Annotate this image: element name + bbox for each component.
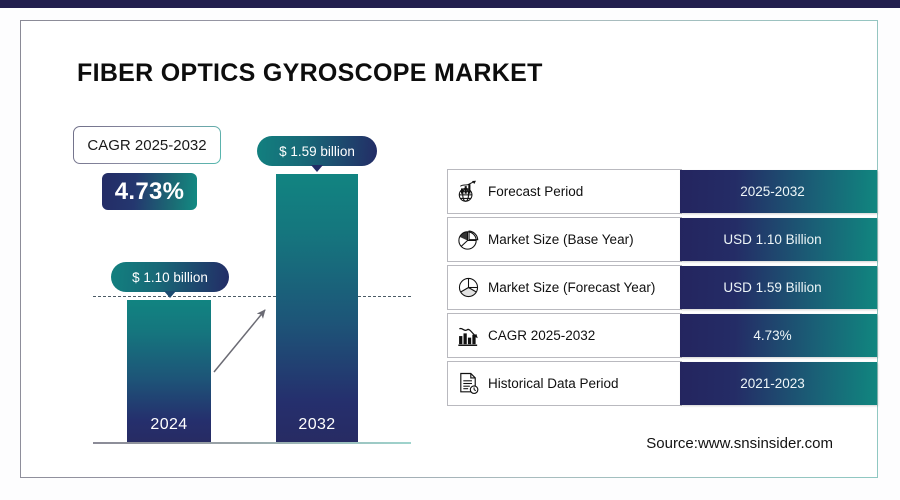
growth-arrow-icon [209,301,275,377]
table-row-value: 4.73% [680,328,877,343]
table-row-value-cell: USD 1.10 Billion [680,218,877,261]
pill-pointer-icon [311,165,323,172]
bar-value-pill-2024: $ 1.10 billion [111,262,229,292]
table-row-value-cell: 4.73% [680,314,877,357]
pill-pointer-icon [164,291,176,298]
summary-table: Forecast Period 2025-2032 [447,169,877,409]
pie-chart-exploded-icon [448,227,488,252]
pie-chart-segments-icon [448,275,488,300]
table-row: Market Size (Base Year) USD 1.10 Billion [447,217,877,262]
infographic-root: FIBER OPTICS GYROSCOPE MARKET CAGR 2025-… [0,0,900,500]
table-row-label-cell: Forecast Period [447,169,682,214]
bar-value-pill-2032: $ 1.59 billion [257,136,377,166]
bar-2024: 2024 [127,300,211,442]
table-row-value: 2021-2023 [680,376,877,391]
bar-category-label-2032: 2032 [276,416,358,434]
table-row-label: Market Size (Forecast Year) [488,280,655,295]
table-row-label: CAGR 2025-2032 [488,328,595,343]
table-row: CAGR 2025-2032 4.73% [447,313,877,358]
reference-dashed-line [93,296,411,297]
globe-growth-chart-icon [448,179,488,204]
bar-fill [276,174,358,442]
source-attribution: Source:www.snsinsider.com [646,435,833,452]
table-row-value: 2025-2032 [680,184,877,199]
bar-value-label-2024: $ 1.10 billion [132,270,208,285]
table-row-value-cell: 2025-2032 [680,170,877,213]
table-row: Forecast Period 2025-2032 [447,169,877,214]
table-row-label: Market Size (Base Year) [488,232,634,247]
table-row-value-cell: USD 1.59 Billion [680,266,877,309]
bar-value-label-2032: $ 1.59 billion [279,144,355,159]
table-row-value: USD 1.59 Billion [680,280,877,295]
top-accent-strip [0,0,900,8]
table-row-value-cell: 2021-2023 [680,362,877,405]
table-row: Market Size (Forecast Year) USD 1.59 Bil… [447,265,877,310]
table-row-label-cell: Market Size (Base Year) [447,217,682,262]
bar-chart: $ 1.10 billion $ 1.59 billion 2024 2032 [81,121,411,451]
bar-category-label-2024: 2024 [127,416,211,434]
document-clock-icon [448,371,488,396]
infographic-card: FIBER OPTICS GYROSCOPE MARKET CAGR 2025-… [20,20,878,478]
table-row-label-cell: Market Size (Forecast Year) [447,265,682,310]
table-row-label: Historical Data Period [488,376,619,391]
table-row-value: USD 1.10 Billion [680,232,877,247]
bar-2032: 2032 [276,174,358,442]
table-row-label-cell: CAGR 2025-2032 [447,313,682,358]
table-row: Historical Data Period 2021-2023 [447,361,877,406]
page-title: FIBER OPTICS GYROSCOPE MARKET [77,59,543,88]
bar-chart-trend-icon [448,323,488,348]
table-row-label: Forecast Period [488,184,583,199]
chart-baseline-axis [93,442,411,444]
table-row-label-cell: Historical Data Period [447,361,682,406]
